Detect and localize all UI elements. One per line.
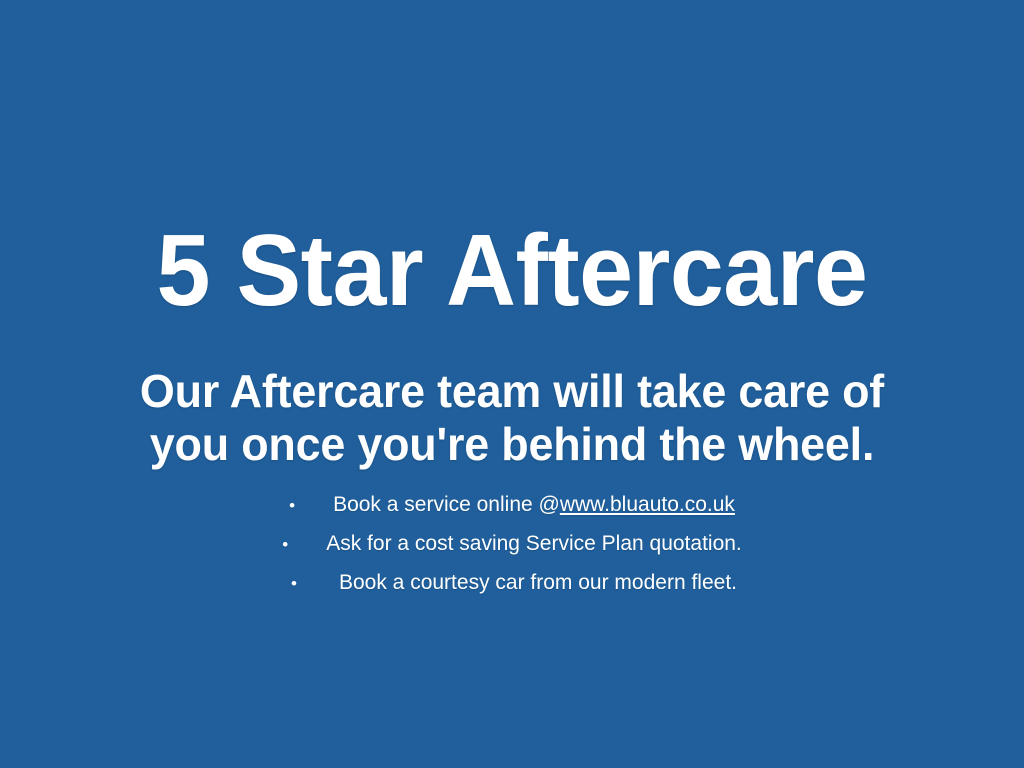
list-item-text: Ask for a cost saving Service Plan quota…: [326, 524, 742, 563]
bullet-dot-icon: •: [282, 525, 326, 564]
bullet-list: •Book a service online @ www.bluauto.co.…: [0, 485, 1024, 602]
list-item-text: Book a courtesy car from our modern flee…: [339, 563, 737, 602]
website-link[interactable]: www.bluauto.co.uk: [560, 493, 735, 516]
bullet-dot-icon: •: [289, 486, 333, 525]
slide-canvas: 5 Star Aftercare Our Aftercare team will…: [0, 0, 1024, 768]
subtitle-line-1: Our Aftercare team will take care of: [64, 365, 961, 418]
page-title: 5 Star Aftercare: [20, 218, 1003, 324]
list-item: •Book a service online @ www.bluauto.co.…: [0, 485, 1024, 524]
list-item-text: Book a service online @: [333, 485, 560, 524]
list-item: •Book a courtesy car from our modern fle…: [0, 563, 1024, 602]
bullet-dot-icon: •: [287, 564, 339, 603]
slide-subtitle: Our Aftercare team will take care of you…: [64, 365, 961, 471]
list-item: •Ask for a cost saving Service Plan quot…: [0, 524, 1024, 563]
subtitle-line-2: you once you're behind the wheel.: [64, 418, 961, 471]
